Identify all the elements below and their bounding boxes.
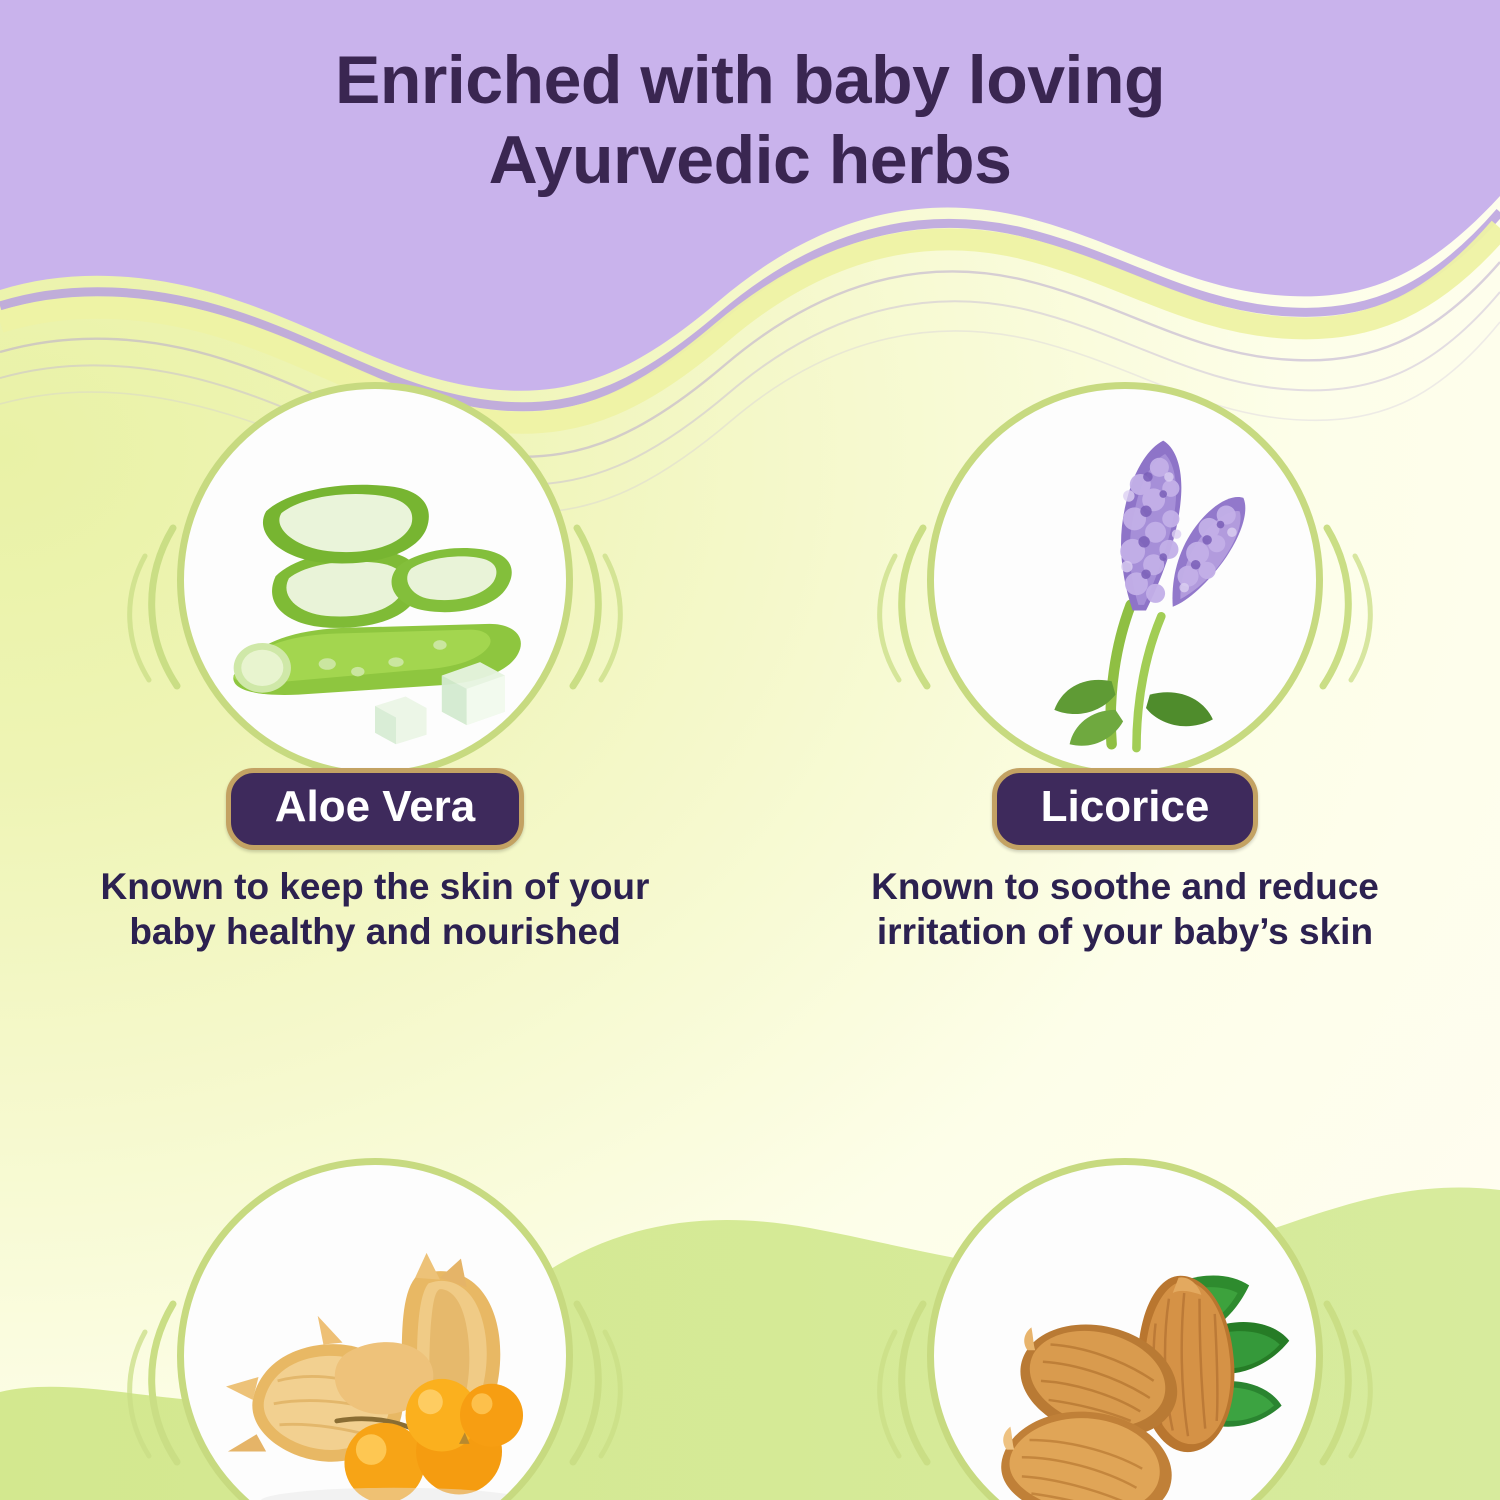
aloe-vera-icon xyxy=(177,382,573,778)
ingredient-card-almonds[interactable]: Almonds Moisturises and nourishes the sk… xyxy=(750,1146,1500,1500)
ingredient-description: Known to keep the skin of your baby heal… xyxy=(101,864,650,954)
ingredient-card-aloe-vera[interactable]: Aloe Vera Known to keep the skin of your… xyxy=(0,370,750,954)
image-circle-area xyxy=(115,1146,635,1500)
ingredient-description: Known to soothe and reduce irritation of… xyxy=(871,864,1379,954)
winter-cherry-icon xyxy=(177,1158,573,1500)
title-line-2: Ayurvedic herbs xyxy=(0,120,1500,200)
ingredient-name-badge: Aloe Vera xyxy=(226,768,525,850)
licorice-flower-icon xyxy=(927,382,1323,778)
ingredient-infographic: Enriched with baby loving Ayurvedic herb… xyxy=(0,0,1500,1500)
image-circle-area xyxy=(865,1146,1385,1500)
grid-row-1: Aloe Vera Known to keep the skin of your… xyxy=(0,370,1500,954)
title-line-1: Enriched with baby loving xyxy=(0,40,1500,120)
ingredient-card-licorice[interactable]: Licorice Known to soothe and reduce irri… xyxy=(750,370,1500,954)
image-circle-area xyxy=(115,370,635,790)
ingredient-card-winter-cherry[interactable]: Winter Cherry Known to treat your baby’s… xyxy=(0,1146,750,1500)
grid-row-2: Winter Cherry Known to treat your baby’s… xyxy=(0,1146,1500,1500)
image-circle-area xyxy=(865,370,1385,790)
almonds-icon xyxy=(927,1158,1323,1500)
ingredient-name-badge: Licorice xyxy=(992,768,1259,850)
ingredient-grid: Aloe Vera Known to keep the skin of your… xyxy=(0,370,1500,1500)
page-title: Enriched with baby loving Ayurvedic herb… xyxy=(0,40,1500,200)
